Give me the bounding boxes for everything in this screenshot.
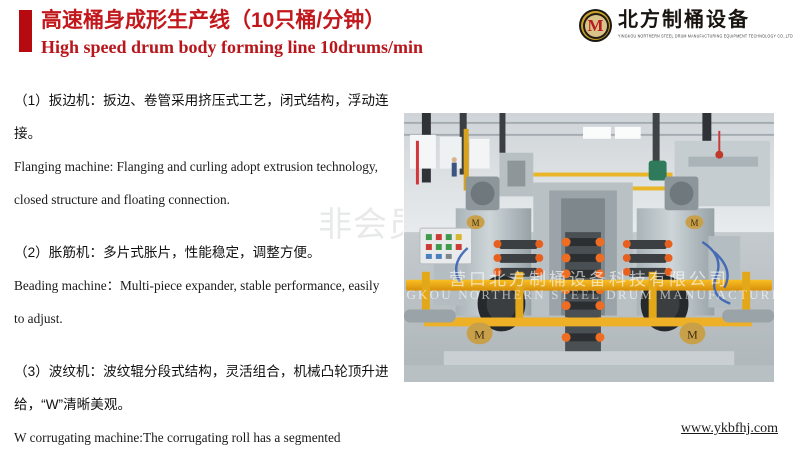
brand-emblem-icon: M (579, 9, 612, 42)
website-url[interactable]: www.ykbfhj.com (681, 421, 778, 437)
production-line-photo-graphic: M M M M (404, 113, 774, 382)
brand-name-en: YINGKOU NORTHERN STEEL DRUM MANUFACTURIN… (618, 32, 793, 40)
brand-name-cn: 北方制桶设备 (618, 9, 793, 31)
paragraph-1: （1）扳边机：扳边、卷管采用挤压式工艺，闭式结构，浮动连 接。 Flanging… (0, 84, 400, 216)
paragraph-1-line-1: （1）扳边机：扳边、卷管采用挤压式工艺，闭式结构，浮动连 (0, 84, 400, 117)
emblem-disc: M (585, 15, 607, 37)
paragraph-3-line-3: W corrugating machine:The corrugating ro… (0, 421, 400, 450)
slide-header: 高速桶身成形生产线（10只桶/分钟） High speed drum body … (0, 0, 800, 62)
company-logo: M 北方制桶设备 YINGKOU NORTHERN STEEL DRUM MAN… (579, 8, 793, 48)
page-title-en: High speed drum body forming line 10drum… (41, 36, 423, 58)
paragraph-1-line-3: Flanging machine: Flanging and curling a… (0, 150, 400, 183)
production-line-photo: M M M M 营口北方制桶设备科技有限公司 YING (403, 112, 775, 383)
description-text-column: （1）扳边机：扳边、卷管采用挤压式工艺，闭式结构，浮动连 接。 Flanging… (0, 84, 400, 450)
paragraph-2: （2）胀筋机：多片式胀片，性能稳定，调整方便。 Beading machine：… (0, 236, 400, 335)
svg-text:M: M (474, 327, 485, 341)
emblem-letter-m: M (587, 17, 603, 34)
svg-text:M: M (472, 218, 480, 228)
svg-text:M: M (687, 327, 698, 341)
page-title-cn: 高速桶身成形生产线（10只桶/分钟） (41, 8, 385, 34)
paragraph-3-line-2: 给，“W”清晰美观。 (0, 388, 400, 421)
paragraph-1-line-2: 接。 (0, 117, 400, 150)
svg-text:M: M (690, 218, 698, 228)
paragraph-2-line-2: Beading machine：Multi-piece expander, st… (0, 269, 400, 302)
title-accent-bar (19, 10, 32, 52)
paragraph-3-line-1: （3）波纹机：波纹辊分段式结构，灵活组合，机械凸轮顶升进 (0, 355, 400, 388)
paragraph-3: （3）波纹机：波纹辊分段式结构，灵活组合，机械凸轮顶升进 给，“W”清晰美观。 … (0, 355, 400, 450)
slide-canvas: 非会员水印 高速桶身成形生产线（10只桶/分钟） High speed drum… (0, 0, 800, 450)
paragraph-2-line-1: （2）胀筋机：多片式胀片，性能稳定，调整方便。 (0, 236, 400, 269)
paragraph-1-line-4: closed structure and floating connection… (0, 183, 400, 216)
brand-text-block: 北方制桶设备 YINGKOU NORTHERN STEEL DRUM MANUF… (618, 8, 793, 38)
paragraph-2-line-3: to adjust. (0, 302, 400, 335)
